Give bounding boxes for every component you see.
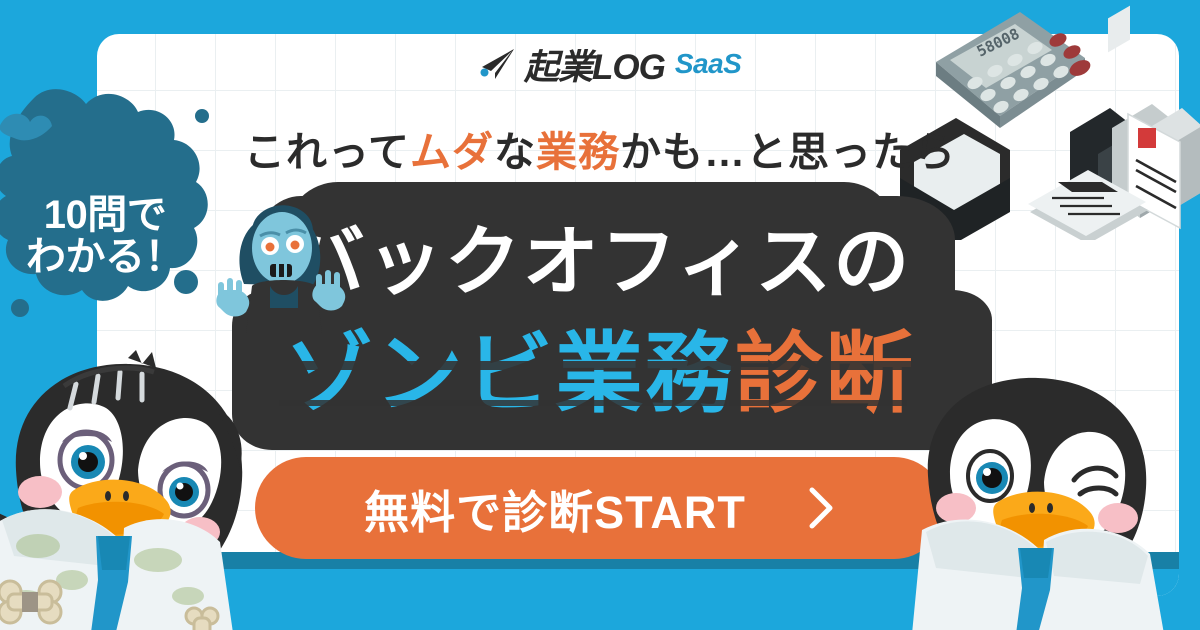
tagline-highlight-1: ムダ [410, 129, 494, 175]
start-diagnosis-button[interactable]: 無料で診断START [255, 457, 945, 559]
zombie-character-illustration [196, 186, 376, 336]
logo-main-text: 起業LOG [524, 39, 665, 90]
brand-logo[interactable]: 起業LOG SaaS [476, 42, 741, 86]
tagline-part-3: かも…と思ったら [620, 129, 956, 175]
tagline-part-1: これって [244, 129, 410, 175]
happy-penguin-svg [912, 372, 1200, 630]
zombie-penguin-illustration [0, 350, 308, 630]
logo-sub-text: SaaS [675, 48, 742, 80]
tagline-part-2: な [494, 129, 536, 175]
headline-diagnosis-text: 診断 [735, 303, 915, 430]
promo-banner: 58008 [0, 0, 1200, 630]
headline-line-1: バックオフィスの [0, 200, 1200, 310]
zombie-svg [196, 186, 376, 336]
chevron-right-icon [804, 484, 836, 532]
tagline-highlight-2: 業務 [536, 129, 620, 175]
tagline: これってムダな業務かも…と思ったら [0, 118, 1200, 178]
calculator-illustration: 58008 [936, 12, 1093, 128]
paper-plane-icon [476, 47, 516, 81]
happy-penguin-illustration [912, 372, 1200, 630]
zombie-penguin-svg [0, 350, 308, 630]
cta-label: 無料で診断START [364, 476, 746, 541]
